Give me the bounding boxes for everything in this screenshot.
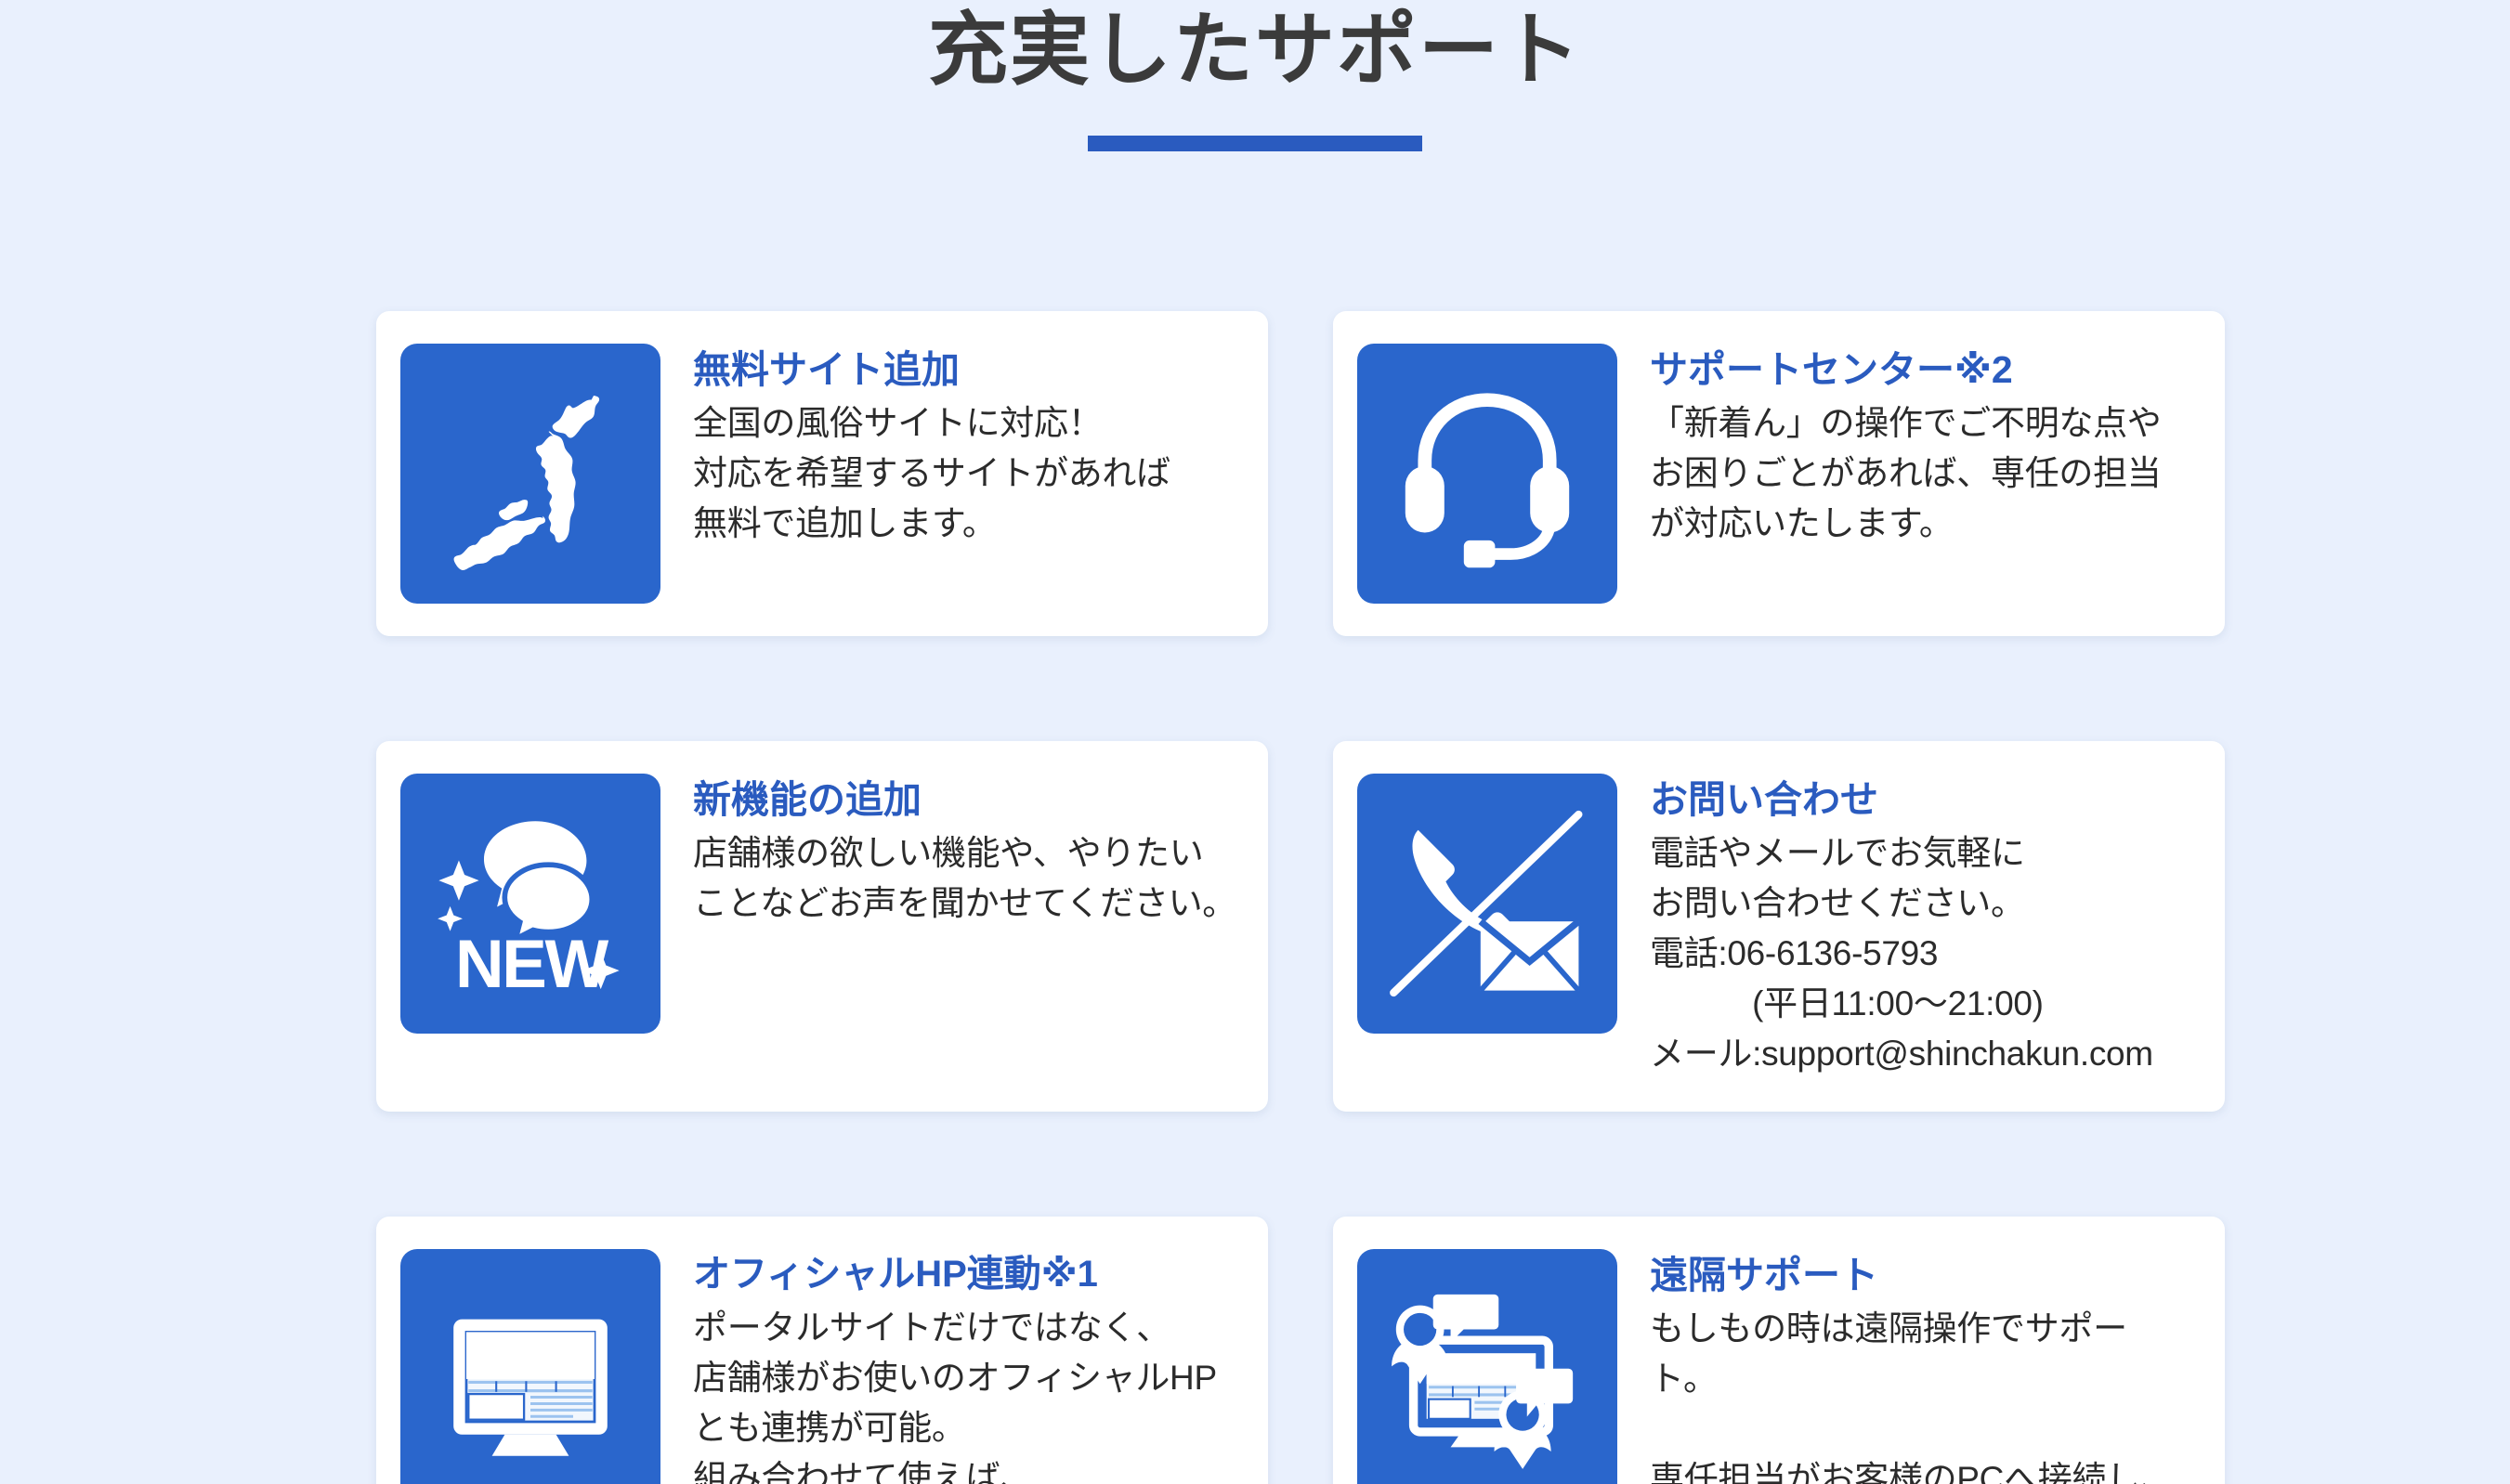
- phone-mail-icon: [1357, 774, 1617, 1034]
- page-title: 充実したサポート: [0, 2, 2510, 99]
- remote-support-icon: [1357, 1249, 1617, 1484]
- svg-text:NEW: NEW: [455, 926, 608, 1001]
- card-title: オフィシャルHP連動※1: [693, 1252, 1236, 1297]
- card-title: サポートセンター※2: [1650, 346, 2193, 393]
- support-card-grid: 無料サイト追加 全国の風俗サイトに対応！ 対応を希望するサイトがあれば 無料で追…: [376, 311, 2225, 1484]
- card-body: 新機能の追加 店舗様の欲しい機能や、やりたい ことなどお声を聞かせてください。: [660, 774, 1236, 929]
- card-body: オフィシャルHP連動※1 ポータルサイトだけではなく、 店舗様がお使いのオフィシ…: [660, 1249, 1236, 1484]
- card-description: 「新着ん」の操作でご不明な点や お困りごとがあれば、専任の担当 が対応いたします…: [1650, 398, 2193, 549]
- card-body: 遠隔サポート もしもの時は遠隔操作でサポート。 専任担当がお客様のPCへ接続し、…: [1617, 1249, 2193, 1484]
- card-title: 遠隔サポート: [1650, 1252, 2193, 1298]
- section-heading: 充実したサポート: [0, 0, 2510, 151]
- japan-map-icon: [400, 344, 660, 604]
- monitor-icon: [400, 1249, 660, 1484]
- card-title: お問い合わせ: [1650, 776, 2193, 823]
- card-description: 店舗様の欲しい機能や、やりたい ことなどお声を聞かせてください。: [693, 828, 1236, 929]
- headset-icon: [1357, 344, 1617, 604]
- support-card-support-center[interactable]: サポートセンター※2 「新着ん」の操作でご不明な点や お困りごとがあれば、専任の…: [1333, 311, 2225, 636]
- new-speech-bubble-icon: NEW: [400, 774, 660, 1034]
- support-card-remote-support[interactable]: 遠隔サポート もしもの時は遠隔操作でサポート。 専任担当がお客様のPCへ接続し、…: [1333, 1217, 2225, 1484]
- card-description: 電話やメールでお気軽に お問い合わせください。 電話:06-6136-5793 …: [1650, 828, 2193, 1079]
- card-description: ポータルサイトだけではなく、 店舗様がお使いのオフィシャルHP とも連携が可能。…: [693, 1303, 1236, 1484]
- support-card-new-features[interactable]: NEW 新機能の追加 店舗様の欲しい機能や、やりたい ことなどお声を聞かせてくだ…: [376, 741, 1268, 1112]
- card-body: サポートセンター※2 「新着ん」の操作でご不明な点や お困りごとがあれば、専任の…: [1617, 344, 2193, 549]
- card-title: 新機能の追加: [693, 776, 1236, 823]
- support-card-official-hp[interactable]: オフィシャルHP連動※1 ポータルサイトだけではなく、 店舗様がお使いのオフィシ…: [376, 1217, 1268, 1484]
- card-description: 全国の風俗サイトに対応！ 対応を希望するサイトがあれば 無料で追加します。: [693, 398, 1236, 549]
- card-body: お問い合わせ 電話やメールでお気軽に お問い合わせください。 電話:06-613…: [1617, 774, 2193, 1079]
- support-card-contact[interactable]: お問い合わせ 電話やメールでお気軽に お問い合わせください。 電話:06-613…: [1333, 741, 2225, 1112]
- card-description: もしもの時は遠隔操作でサポート。 専任担当がお客様のPCへ接続し、 画面を確認し…: [1650, 1304, 2193, 1484]
- card-title: 無料サイト追加: [693, 346, 1236, 393]
- heading-underline-rule: [1088, 136, 1422, 151]
- card-body: 無料サイト追加 全国の風俗サイトに対応！ 対応を希望するサイトがあれば 無料で追…: [660, 344, 1236, 549]
- support-card-free-site-add[interactable]: 無料サイト追加 全国の風俗サイトに対応！ 対応を希望するサイトがあれば 無料で追…: [376, 311, 1268, 636]
- support-section-page: 充実したサポート 無料サイト追加 全国の風俗サイトに対応！ 対応を希望するサイト…: [0, 0, 2510, 1484]
